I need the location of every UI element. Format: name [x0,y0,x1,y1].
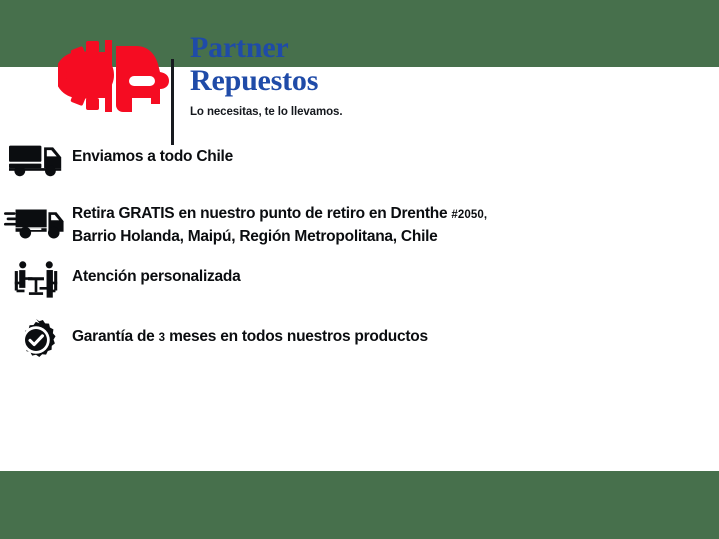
brand-divider [171,59,174,145]
brand-name-line-1: Partner [190,31,342,64]
feature-text-personal-attention: Atención personalizada [72,258,719,288]
feature-text-pickup: Retira GRATIS en nuestro punto de retiro… [72,202,719,248]
page-root: Partner Repuestos Lo necesitas, te lo ll… [0,0,719,539]
feature-text-warranty: Garantía de 3 meses en todos nuestros pr… [72,316,719,349]
pickup-address-number: #2050, [451,209,487,221]
meeting-table-icon [0,258,72,298]
brand-name-line-2: Repuestos [190,64,342,97]
warranty-text-part2: meses en todos nuestros productos [165,328,428,345]
feature-row-warranty: Garantía de 3 meses en todos nuestros pr… [0,316,719,362]
delivery-truck-icon [0,140,72,178]
feature-row-personal-attention: Atención personalizada [0,258,719,304]
feature-row-shipping: Enviamos a todo Chile [0,140,719,186]
brand-header: Partner Repuestos Lo necesitas, te lo ll… [0,26,719,126]
pickup-text-part1: Retira GRATIS en nuestro punto de retiro… [72,205,451,222]
feature-text-shipping: Enviamos a todo Chile [72,140,719,168]
pickup-text-part2: Barrio Holanda, Maipú, Región Metropolit… [72,228,438,245]
warranty-text-part1: Garantía de [72,328,159,345]
brand-text-block: Partner Repuestos Lo necesitas, te lo ll… [190,31,342,119]
gear-car-logo-icon [58,26,170,122]
feature-list: Enviamos a todo Chile [0,140,719,362]
brand-tagline: Lo necesitas, te lo llevamos. [190,105,342,119]
guarantee-badge-icon [0,316,72,362]
moving-truck-icon [0,202,72,240]
feature-row-pickup: Retira GRATIS en nuestro punto de retiro… [0,202,719,248]
